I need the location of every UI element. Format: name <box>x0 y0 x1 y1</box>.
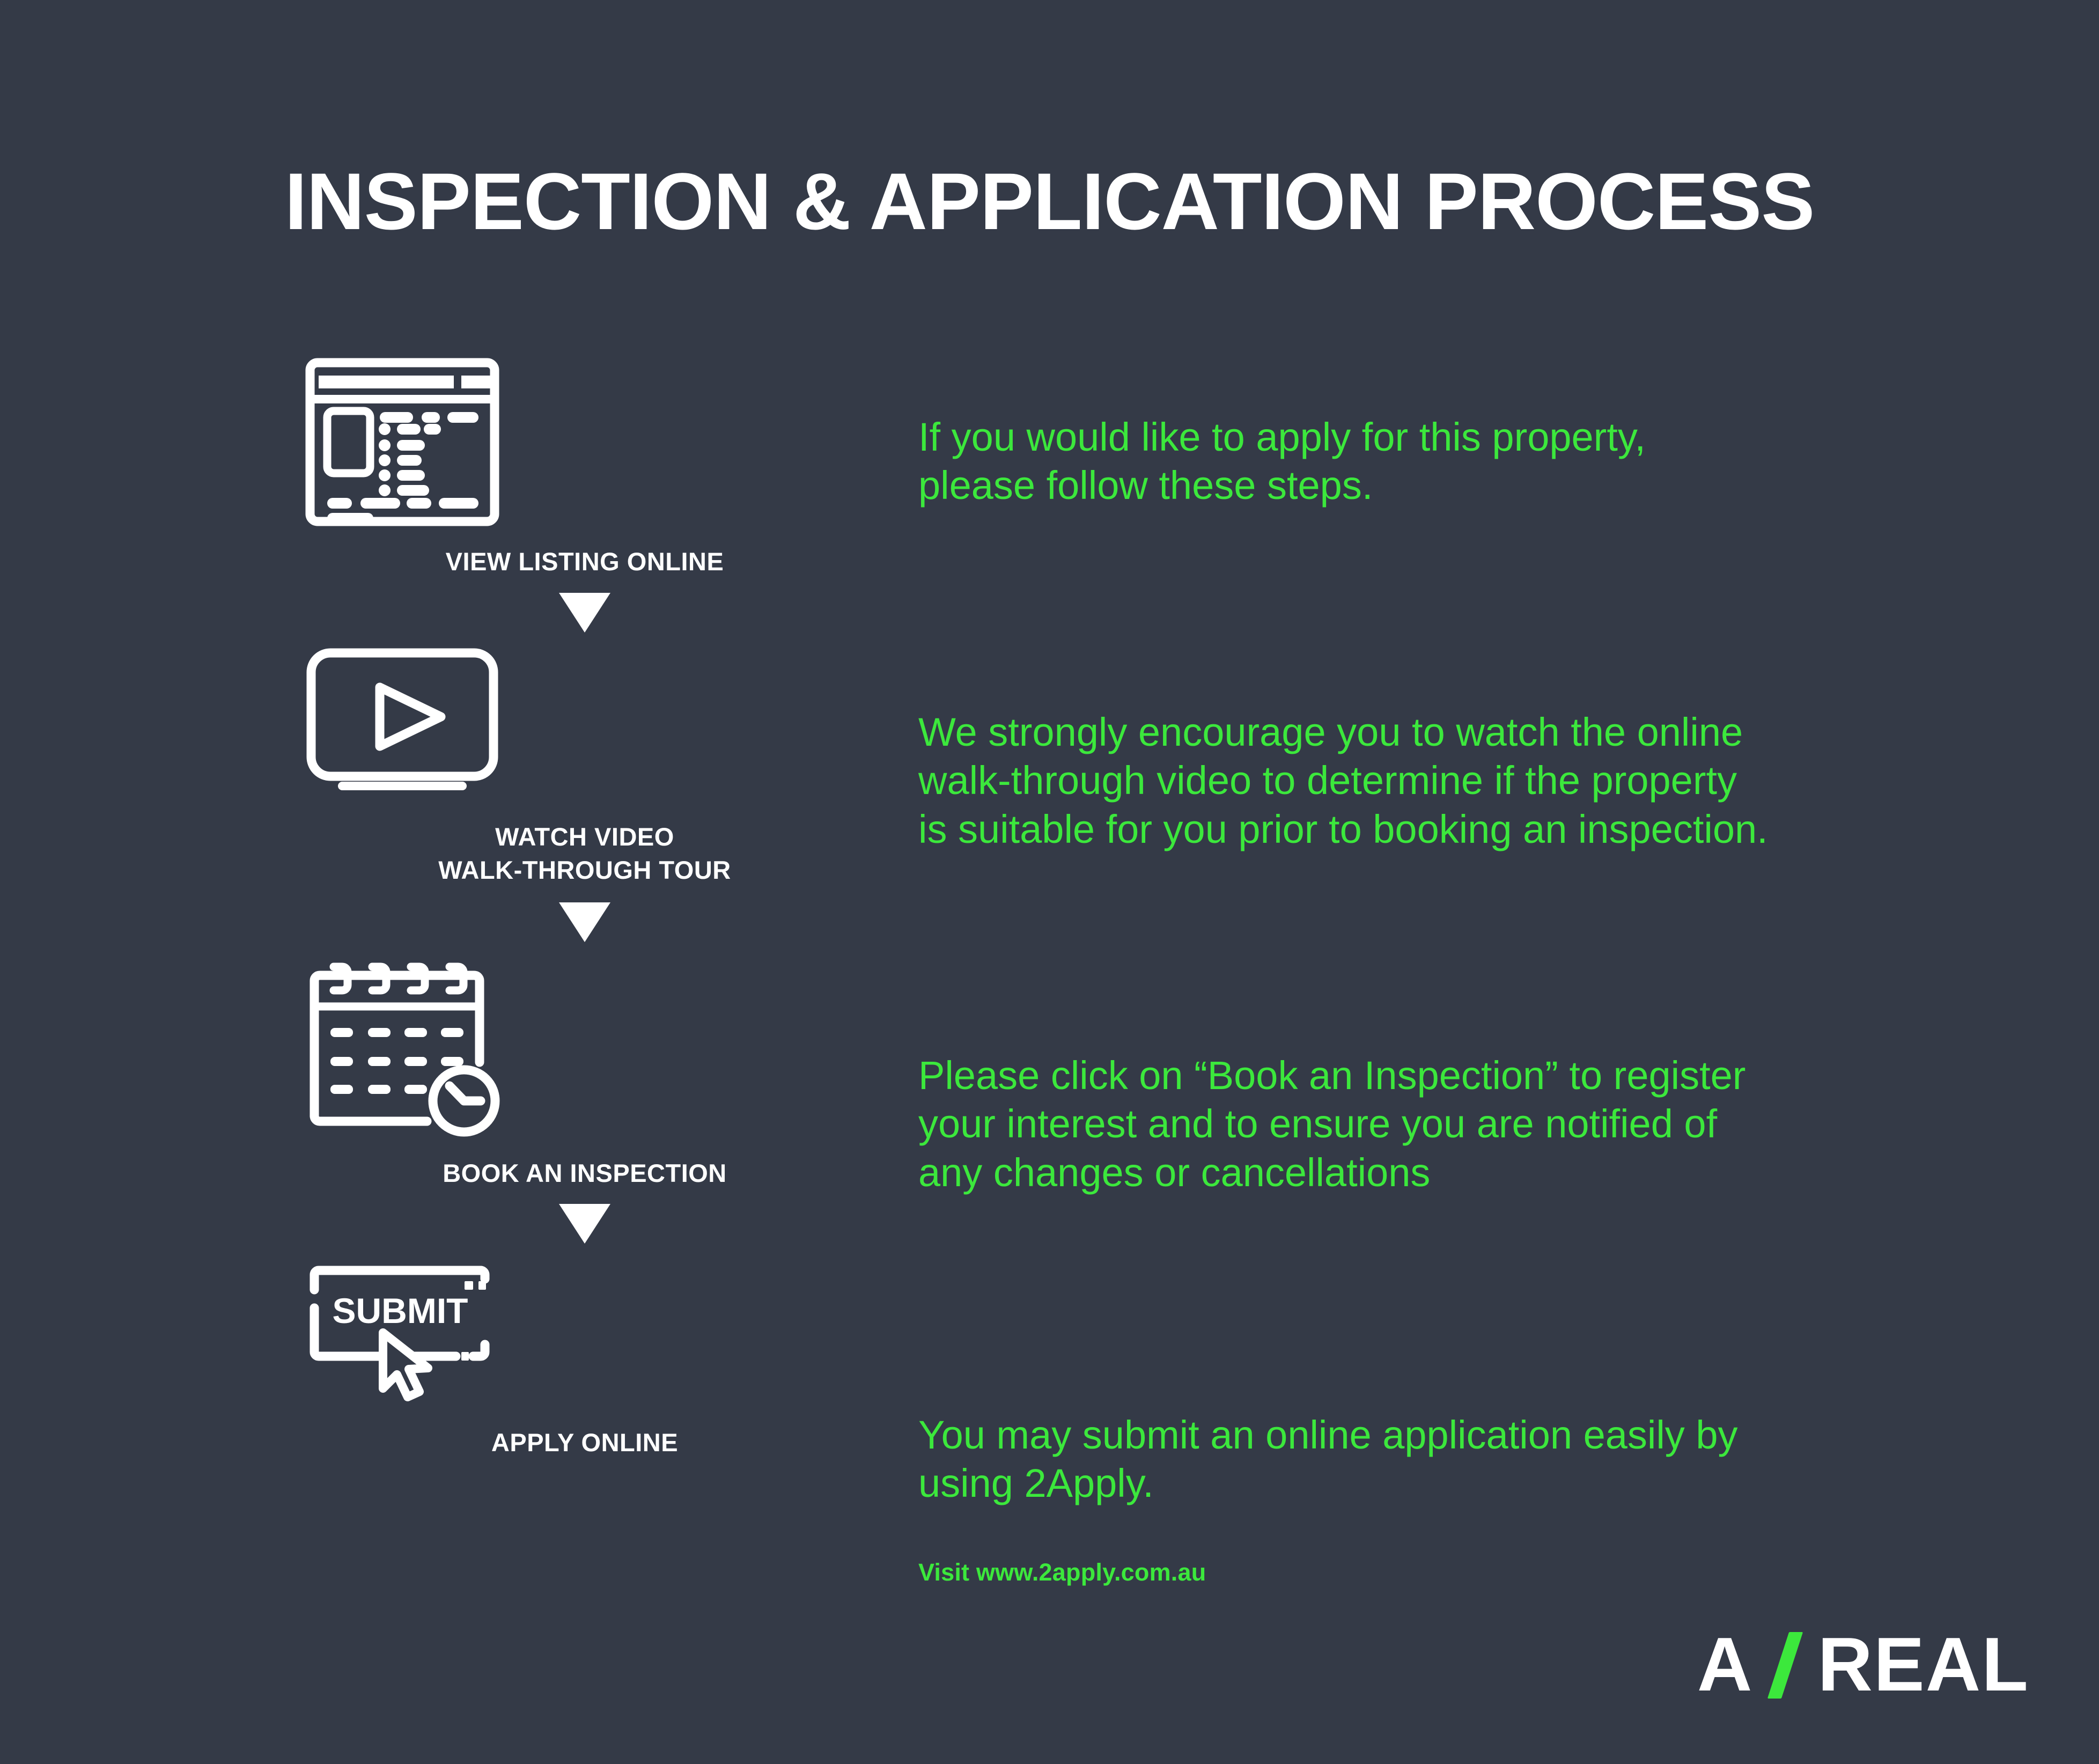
arrow-down-icon <box>559 593 610 633</box>
video-play-screen-icon <box>300 645 869 806</box>
instruction-paragraph-2: We strongly encourage you to watch the o… <box>918 708 1768 854</box>
step-label-watch-video-walkthrough: WATCH VIDEO WALK-THROUGH TOUR <box>300 820 869 887</box>
calendar-clock-icon <box>300 955 869 1143</box>
step-apply-online[interactable]: SUBMIT APPLY ONLINE <box>300 1256 869 1460</box>
step-label-book-an-inspection: BOOK AN INSPECTION <box>300 1157 869 1190</box>
arrow-down-1 <box>300 593 869 633</box>
logo-letter-a: A <box>1697 1627 1754 1703</box>
logo-word-real: REAL <box>1817 1627 2029 1703</box>
arrow-down-2 <box>300 902 869 942</box>
logo-slash-icon <box>1753 1630 1817 1700</box>
step-label-view-listing-online: VIEW LISTING ONLINE <box>300 545 869 579</box>
page-title: INSPECTION & APPLICATION PROCESS <box>0 161 2099 241</box>
instruction-paragraph-1: If you would like to apply for this prop… <box>918 413 1646 510</box>
infographic-poster: INSPECTION & APPLICATION PROCESS <box>0 0 2099 1764</box>
arrow-down-icon <box>559 1204 610 1244</box>
visit-url-line[interactable]: Visit www.2apply.com.au <box>918 1559 1206 1586</box>
step-view-listing-online[interactable]: VIEW LISTING ONLINE <box>300 354 869 579</box>
submit-button-cursor-icon: SUBMIT <box>300 1256 869 1412</box>
process-step-column: VIEW LISTING ONLINE WATCH VIDEO WALK-THR… <box>300 354 869 1460</box>
step-book-an-inspection[interactable]: BOOK AN INSPECTION <box>300 955 869 1190</box>
submit-icon-text: SUBMIT <box>333 1291 468 1331</box>
arrow-down-3 <box>300 1204 869 1244</box>
step-watch-video-walkthrough[interactable]: WATCH VIDEO WALK-THROUGH TOUR <box>300 645 869 887</box>
brand-logo: A REAL <box>1697 1630 2029 1700</box>
instruction-paragraph-4: You may submit an online application eas… <box>918 1411 1738 1508</box>
listing-window-icon <box>300 354 869 531</box>
arrow-down-icon <box>559 902 610 942</box>
step-label-apply-online: APPLY ONLINE <box>300 1426 869 1460</box>
instruction-paragraph-3: Please click on “Book an Inspection” to … <box>918 1052 1746 1197</box>
